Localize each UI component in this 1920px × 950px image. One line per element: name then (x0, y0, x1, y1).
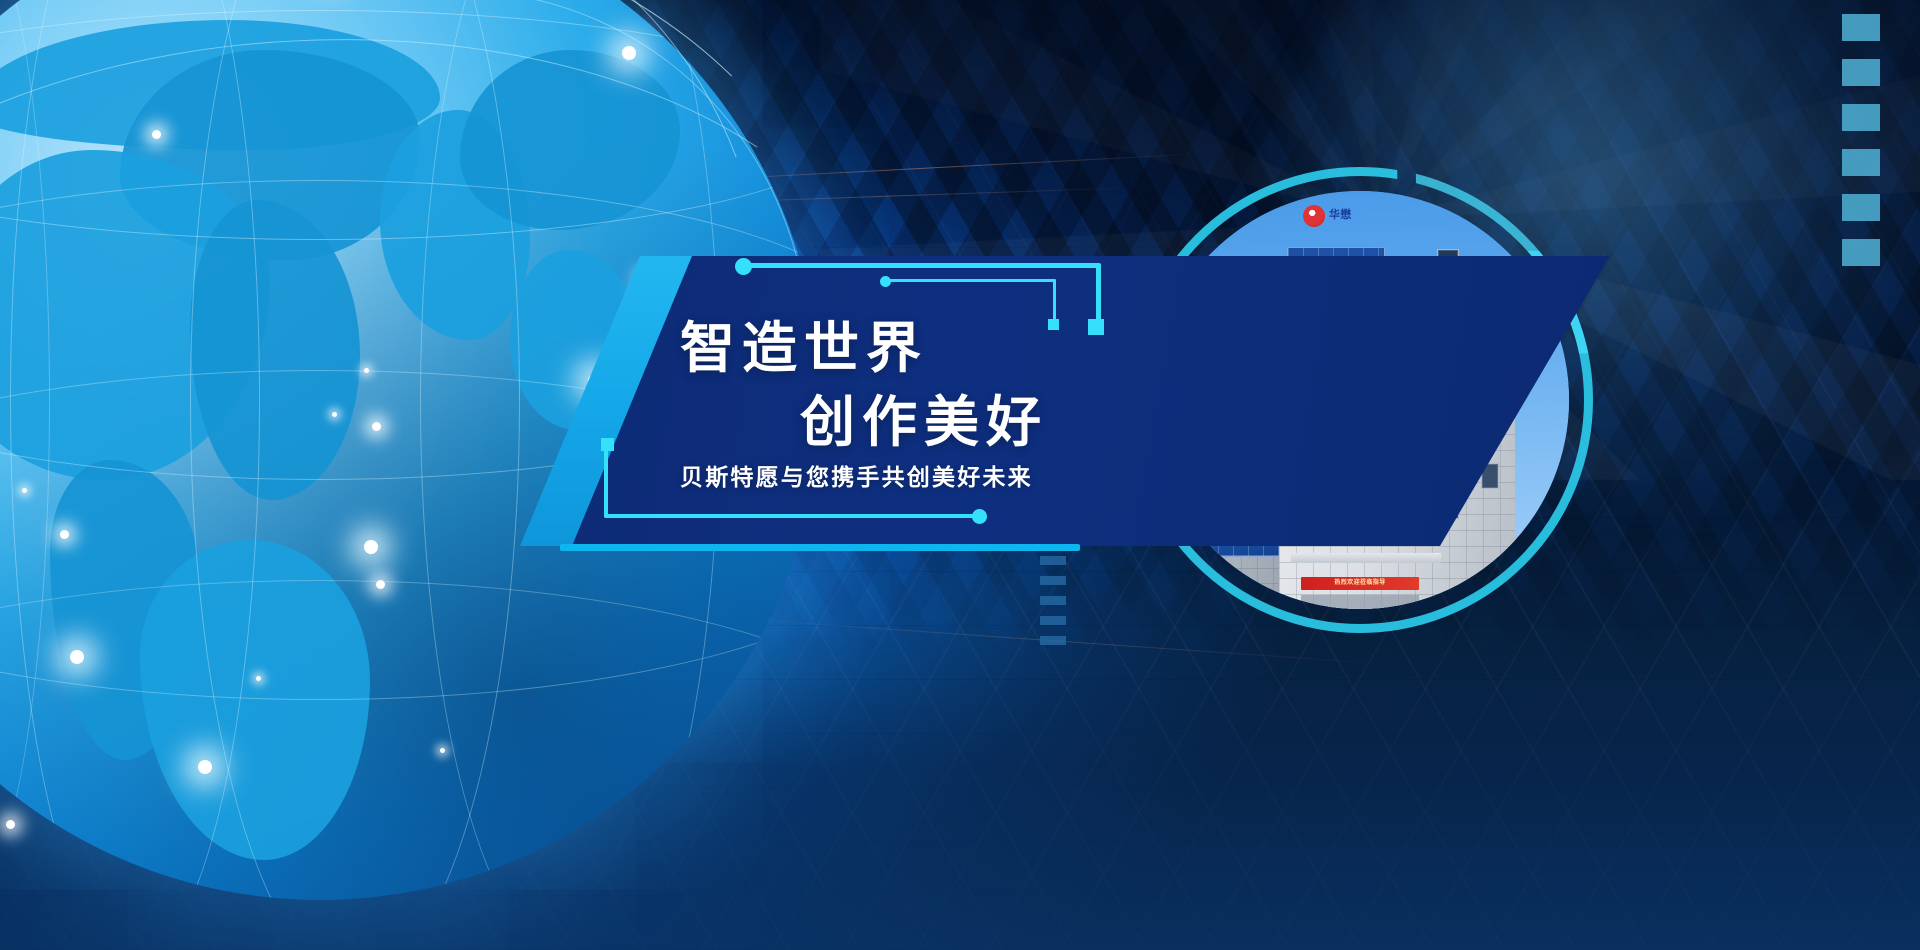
glow-node-icon (60, 530, 69, 539)
bottom-decor-bar (1040, 576, 1066, 585)
edge-decor-bar (1842, 14, 1880, 41)
glow-node-icon (6, 820, 15, 829)
glow-node-icon (332, 412, 337, 417)
building-sign-primary: 贝斯特 BEST (1175, 199, 1281, 225)
bottom-decor-bar (1040, 596, 1066, 605)
bottom-decor-bar (1040, 616, 1066, 625)
glow-node-icon (376, 580, 385, 589)
accent-line-bottom-vert (604, 448, 608, 518)
bottom-decor-bar (1040, 636, 1066, 645)
hero-banner: 贝斯特 BEST 华懋 热烈欢迎莅临指导 (0, 0, 1920, 950)
edge-decor-bar (1842, 59, 1880, 86)
secondary-logo-icon (1303, 205, 1325, 227)
headline-subtitle: 贝斯特愿与您携手共创美好未来 (680, 458, 1033, 492)
glow-node-icon (198, 760, 212, 774)
glow-node-icon (364, 540, 378, 554)
bottom-decor-bar (1040, 556, 1066, 565)
entrance-base (1301, 595, 1419, 609)
headline-line-2: 创作美好 (800, 377, 1048, 457)
sign-secondary-text: 华懋 (1329, 210, 1352, 222)
glow-node-icon (70, 650, 84, 664)
edge-decor-bar (1842, 194, 1880, 221)
accent-line-bottom-1 (604, 514, 984, 518)
welcome-banner: 热烈欢迎莅临指导 (1301, 577, 1419, 590)
headline-panel (520, 256, 1610, 546)
glow-node-icon (152, 130, 161, 139)
glow-node-icon (256, 676, 261, 681)
accent-line-top-2 (888, 279, 1056, 282)
glow-node-icon (22, 488, 27, 493)
sign-logo-en: BEST (1202, 220, 1229, 227)
accent-square-top-2 (1048, 319, 1059, 330)
company-logo-icon (1175, 203, 1199, 221)
edge-decor-bar (1842, 239, 1880, 266)
accent-square-top-1 (1088, 319, 1104, 335)
welcome-banner-text: 热烈欢迎莅临指导 (1301, 577, 1419, 590)
glow-node-icon (372, 422, 381, 431)
glow-node-icon (364, 368, 369, 373)
edge-decor-bar (1842, 104, 1880, 131)
accent-line-top-1 (748, 263, 1100, 268)
entrance-canopy (1291, 553, 1441, 563)
accent-line-top-2-drop (1053, 279, 1056, 323)
glow-node-icon (440, 748, 445, 753)
edge-decor-bar (1842, 149, 1880, 176)
accent-line-bottom-2 (560, 544, 1080, 551)
accent-dot-bottom-1 (972, 509, 987, 524)
headline-line-1: 智造世界 (680, 303, 928, 383)
accent-line-top-1-drop (1096, 263, 1101, 326)
glow-node-icon (622, 46, 636, 60)
building-sign-secondary: 华懋 (1303, 201, 1389, 231)
sign-logo-cn: 贝斯特 (1202, 194, 1249, 211)
